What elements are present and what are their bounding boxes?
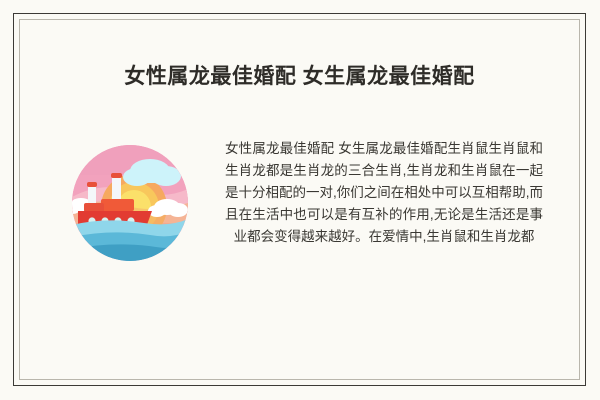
ship-sunset-illustration xyxy=(72,145,188,261)
page-title: 女性属龙最佳婚配 女生属龙最佳婚配 xyxy=(20,60,579,90)
page-content: 女性属龙最佳婚配 女生属龙最佳婚配 xyxy=(20,20,579,379)
article-page: 女性属龙最佳婚配 女生属龙最佳婚配 xyxy=(0,0,600,400)
article-body: 女性属龙最佳婚配 女生属龙最佳婚配生肖鼠生肖鼠和生肖龙都是生肖龙的三合生肖,生肖… xyxy=(56,138,543,328)
article-text: 女性属龙最佳婚配 女生属龙最佳婚配生肖鼠生肖鼠和生肖龙都是生肖龙的三合生肖,生肖… xyxy=(225,138,543,248)
